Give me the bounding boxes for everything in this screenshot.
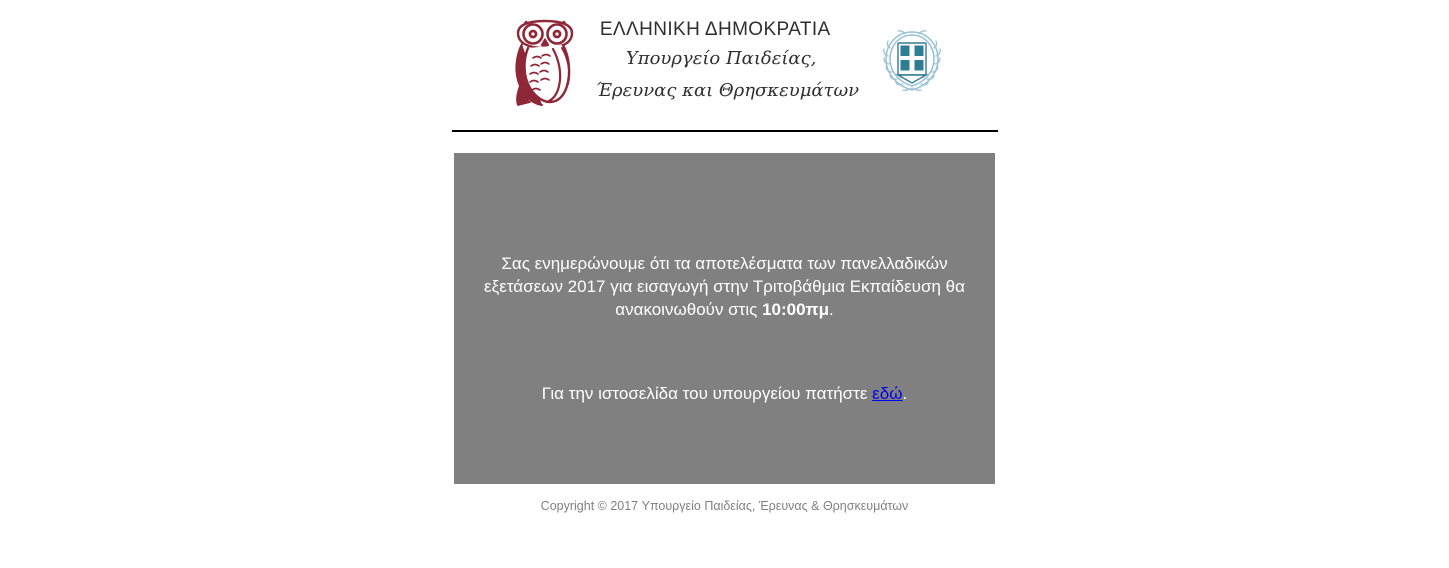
announcement-message-period: . <box>829 300 834 319</box>
website-link-suffix: . <box>903 384 908 403</box>
announcement-message-text: Σας ενημερώνουμε ότι τα αποτελέσματα των… <box>484 254 965 319</box>
owl-logo-icon <box>506 12 584 108</box>
website-link-line: Για την ιστοσελίδα του υπουργείου πατήστ… <box>454 382 995 405</box>
website-link-prefix: Για την ιστοσελίδα του υπουργείου πατήστ… <box>542 384 872 403</box>
site-header: ΕΛΛΗΝΙΚΗ ΔΗΜΟΚΡΑΤΙΑ Υπουργείο Παιδείας, … <box>0 0 1449 108</box>
greek-coat-of-arms-icon <box>881 26 943 98</box>
ministry-logo: ΕΛΛΗΝΙΚΗ ΔΗΜΟΚΡΑΤΙΑ Υπουργείο Παιδείας, … <box>506 12 943 108</box>
footer-copyright: Copyright © 2017 Υπουργείο Παιδείας, Έρε… <box>0 499 1449 513</box>
ministry-logo-text: ΕΛΛΗΝΙΚΗ ΔΗΜΟΚΡΑΤΙΑ Υπουργείο Παιδείας, … <box>590 12 859 108</box>
logo-line-research: Έρευνας και Θρησκευμάτων <box>592 82 859 100</box>
announcement-message: Σας ενημερώνουμε ότι τα αποτελέσματα των… <box>454 252 995 321</box>
announcement-time: 10:00πμ <box>762 300 829 319</box>
header-divider <box>452 130 998 132</box>
announcement-panel: Σας ενημερώνουμε ότι τα αποτελέσματα των… <box>454 153 995 484</box>
header-divider-wrap <box>0 130 1449 132</box>
logo-line-ministry: Υπουργείο Παιδείας, <box>592 50 859 82</box>
main-panel-wrap: Σας ενημερώνουμε ότι τα αποτελέσματα των… <box>0 153 1449 484</box>
ministry-website-link[interactable]: εδώ <box>872 384 902 403</box>
logo-line-republic: ΕΛΛΗΝΙΚΗ ΔΗΜΟΚΡΑΤΙΑ <box>592 20 859 50</box>
